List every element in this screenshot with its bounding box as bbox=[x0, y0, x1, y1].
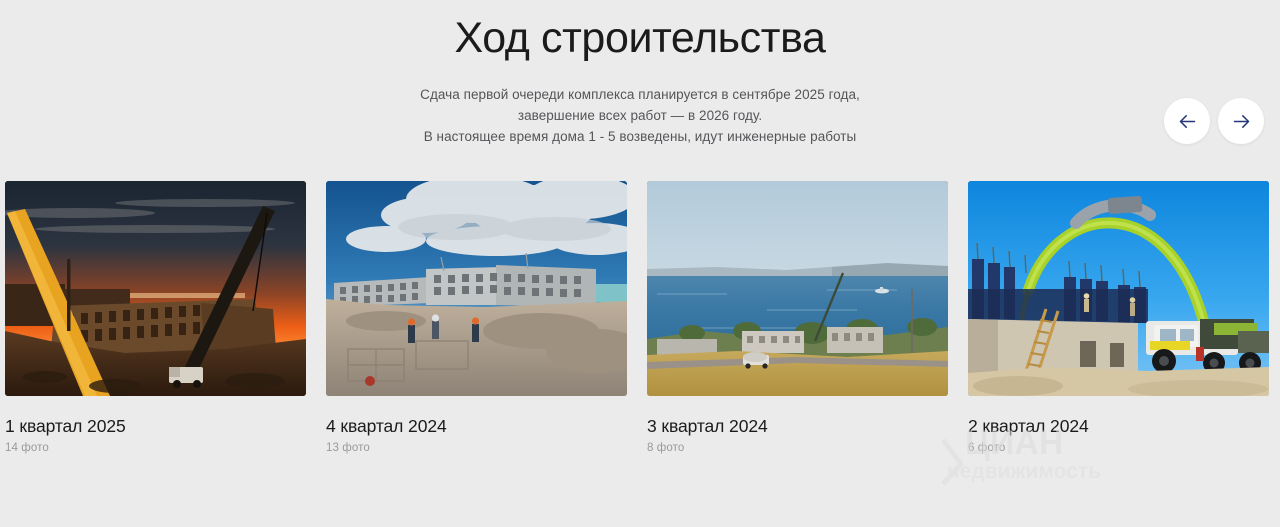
construction-progress-section: Ход строительства Сдача первой очереди к… bbox=[0, 0, 1280, 527]
arrow-right-icon bbox=[1231, 111, 1252, 132]
card-title: 4 квартал 2024 bbox=[326, 416, 627, 437]
subtitle-line-3: В настоящее время дома 1 - 5 возведены, … bbox=[320, 126, 960, 147]
gallery-card[interactable]: 1 квартал 2025 14 фото bbox=[5, 181, 306, 454]
card-photo[interactable] bbox=[5, 181, 306, 396]
card-photo-count: 6 фото bbox=[968, 442, 1269, 454]
card-title: 3 квартал 2024 bbox=[647, 416, 948, 437]
photo-concrete-pump-image bbox=[968, 181, 1269, 396]
gallery-card[interactable]: 4 квартал 2024 13 фото bbox=[326, 181, 627, 454]
card-photo-count: 13 фото bbox=[326, 442, 627, 454]
card-photo[interactable] bbox=[968, 181, 1269, 396]
carousel-prev-button[interactable] bbox=[1164, 98, 1210, 144]
card-photo-count: 14 фото bbox=[5, 442, 306, 454]
photo-bay-view-image bbox=[647, 181, 948, 396]
photo-sunset-cranes-image bbox=[5, 181, 306, 396]
page-title: Ход строительства bbox=[0, 12, 1280, 66]
gallery-card[interactable]: 2 квартал 2024 6 фото bbox=[968, 181, 1269, 454]
card-photo[interactable] bbox=[647, 181, 948, 396]
carousel-controls bbox=[1164, 98, 1264, 144]
card-title: 2 квартал 2024 bbox=[968, 416, 1269, 437]
gallery-card[interactable]: 3 квартал 2024 8 фото bbox=[647, 181, 948, 454]
watermark-subtext: недвижимость bbox=[947, 460, 1101, 483]
subtitle-line-2: завершение всех работ — в 2026 году. bbox=[320, 105, 960, 126]
arrow-left-icon bbox=[1177, 111, 1198, 132]
subtitle-line-1: Сдача первой очереди комплекса планирует… bbox=[320, 84, 960, 105]
section-subtitle: Сдача первой очереди комплекса планирует… bbox=[320, 84, 960, 147]
card-photo-count: 8 фото bbox=[647, 442, 948, 454]
card-photo[interactable] bbox=[326, 181, 627, 396]
photo-panel-buildings-image bbox=[326, 181, 627, 396]
progress-gallery: 1 квартал 2025 14 фото bbox=[5, 181, 1275, 454]
card-title: 1 квартал 2025 bbox=[5, 416, 306, 437]
carousel-next-button[interactable] bbox=[1218, 98, 1264, 144]
section-header: Ход строительства Сдача первой очереди к… bbox=[0, 0, 1280, 147]
